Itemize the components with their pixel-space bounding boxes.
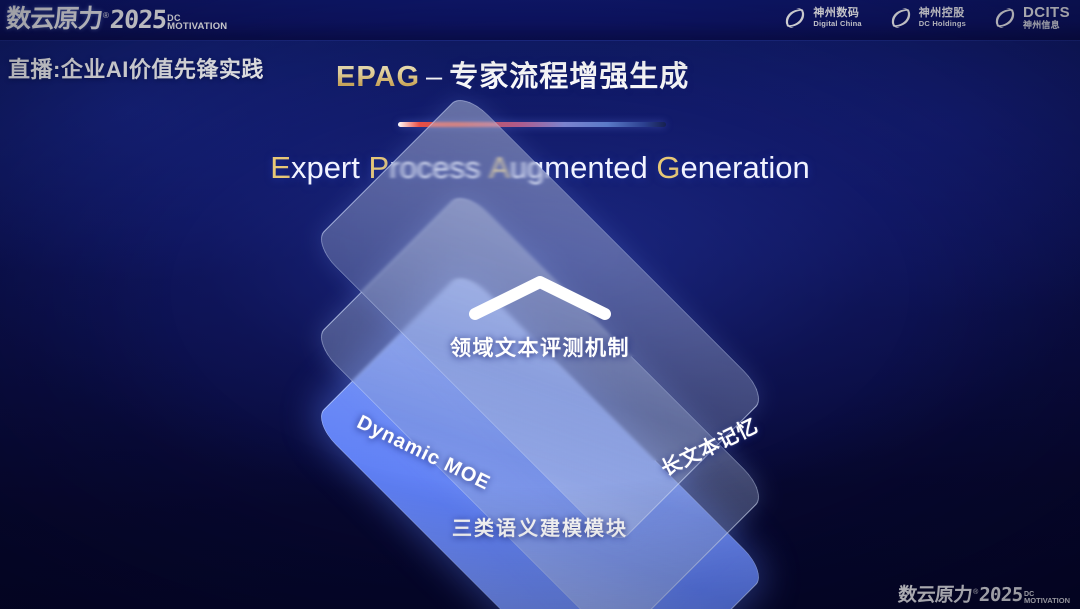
- watermark-registered-mark: ®: [973, 589, 978, 596]
- partner-name-cn: DCITS: [1023, 5, 1070, 21]
- layer-label-bottom: 三类语义建模模块: [452, 512, 628, 541]
- watermark-motivation: MOTIVATION: [1024, 597, 1070, 605]
- subtitle-rest-expert: xpert: [291, 150, 360, 185]
- brand-name-cn: 数云原力: [5, 7, 103, 32]
- layer-label-top: 领域文本评测机制: [450, 332, 630, 362]
- brand-year: 2025: [109, 7, 167, 32]
- subtitle-cap-e: E: [270, 150, 291, 185]
- partner-logo-dc-holdings: 神州控股 DC Holdings: [888, 5, 966, 31]
- partner-text: 神州控股 DC Holdings: [919, 8, 966, 27]
- partner-text: 神州数码 Digital China: [813, 8, 861, 27]
- live-broadcast-title: 直播:企业AI价值先锋实践: [8, 52, 264, 84]
- layer-stack-diagram: 领域文本评测机制 Dynamic MOE 长文本记忆 三类语义建模模块: [300, 232, 780, 562]
- watermark-logo: 数云原力 ® 2025 DC MOTIVATION: [898, 586, 1070, 605]
- title-dash: –: [426, 61, 443, 93]
- subtitle-rest-generation: eneration: [680, 150, 809, 185]
- brand-registered-mark: ®: [103, 12, 109, 20]
- watermark-year: 2025: [979, 586, 1024, 605]
- slide-canvas: 数云原力 ® 2025 DC MOTIVATION 神州数码 Digital C…: [0, 0, 1080, 609]
- brand-logo: 数云原力 ® 2025 DC MOTIVATION: [6, 2, 227, 32]
- partner-logos: 神州数码 Digital China 神州控股 DC Holdings DCIT…: [782, 5, 1070, 31]
- partner-logo-digital-china: 神州数码 Digital China: [782, 5, 861, 31]
- partner-name-en: Digital China: [813, 20, 861, 28]
- swirl-icon: [888, 5, 914, 31]
- brand-motivation: MOTIVATION: [167, 22, 227, 32]
- watermark-dc-motivation: DC MOTIVATION: [1024, 591, 1070, 606]
- partner-logo-dcits: DCITS 神州信息: [992, 5, 1070, 31]
- title-chinese: 专家流程增强生成: [449, 61, 689, 93]
- brand-dc-motivation: DC MOTIVATION: [167, 14, 227, 33]
- title-acronym: EPAG: [336, 61, 420, 93]
- page-title: EPAG–专家流程增强生成: [336, 53, 689, 95]
- swirl-icon: [782, 5, 808, 31]
- partner-text: DCITS 神州信息: [1023, 5, 1070, 30]
- partner-name-en: DC Holdings: [919, 20, 966, 28]
- partner-name-en: 神州信息: [1023, 21, 1070, 30]
- swirl-icon: [992, 5, 1018, 31]
- watermark-name-cn: 数云原力: [897, 586, 972, 605]
- subtitle-cap-g: G: [656, 150, 680, 185]
